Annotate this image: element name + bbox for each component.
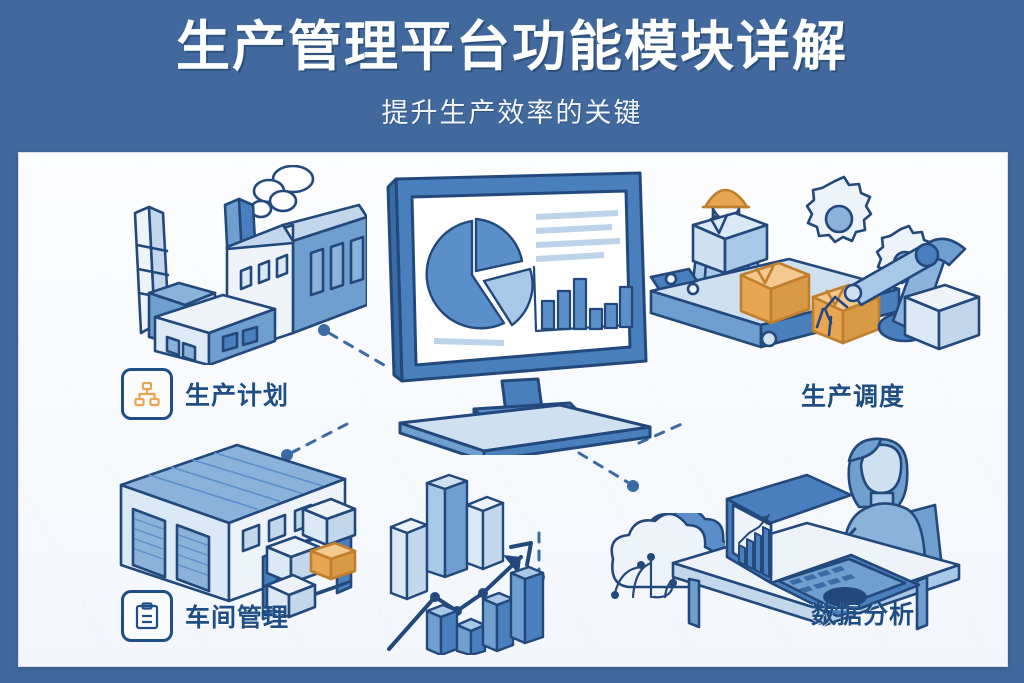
monitor-dashboard-illustration [354,165,674,455]
module-label-text: 数据分析 [811,595,915,631]
clipboard-icon [121,590,173,642]
module-label-workshop-management[interactable]: 车间管理 [121,590,289,642]
module-label-text: 车间管理 [185,598,289,634]
page-title: 生产管理平台功能模块详解 [0,16,1024,78]
growth-bar-2 [427,475,467,577]
factory-illustration [97,165,367,365]
growth-bar-1 [391,519,427,599]
module-label-data-analysis[interactable]: 数据分析 [811,595,915,631]
growth-bar-small-4 [511,567,543,643]
robot-conveyor-illustration [649,163,989,383]
growth-bars-illustration [371,465,571,655]
header: 生产管理平台功能模块详解 提升生产效率的关键 [0,0,1024,152]
content-card: 生产计划 [18,152,1008,667]
module-label-text: 生产计划 [185,376,289,412]
module-label-text: 生产调度 [801,377,905,413]
module-label-production-scheduling[interactable]: 生产调度 [801,377,905,413]
growth-bar-3 [467,497,503,569]
smoke-cloud [251,166,313,217]
module-label-production-plan[interactable]: 生产计划 [121,368,289,420]
box-blue-right [905,285,979,349]
growth-bar-small-1 [427,605,457,655]
infographic-root: 生产管理平台功能模块详解 提升生产效率的关键 [0,0,1024,683]
hierarchy-icon [121,368,173,420]
growth-bar-small-3 [483,593,513,651]
growth-bar-small-2 [457,619,485,655]
gear-icon-large [807,177,871,242]
box-blue-conveyor [693,213,767,273]
box-orange-1 [741,263,809,323]
page-subtitle: 提升生产效率的关键 [0,96,1024,130]
